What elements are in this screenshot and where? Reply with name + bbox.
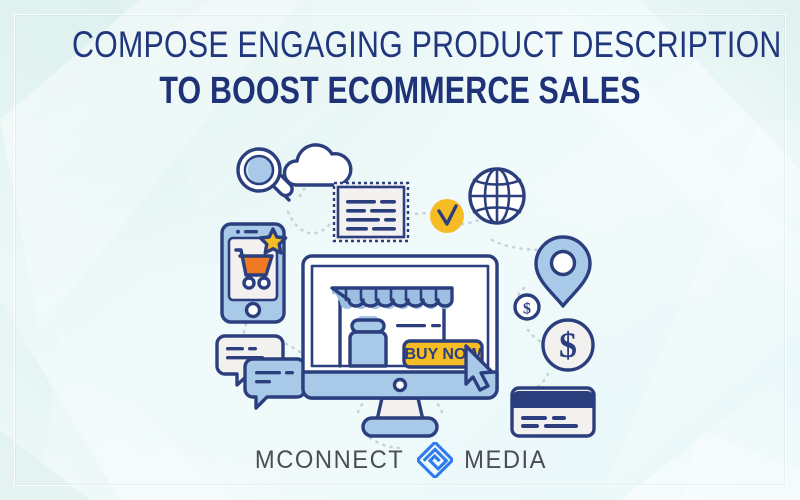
shelf-dashes (396, 324, 441, 327)
globe-icon (470, 169, 524, 223)
dollar-coin-large-icon: $ (543, 320, 593, 370)
svg-text:$: $ (523, 301, 531, 318)
document-icon (334, 183, 408, 241)
location-pin-icon (536, 237, 590, 306)
brand-logo[interactable]: MCONNECT MEDIA (0, 442, 800, 478)
mconnect-diamond-mark (417, 442, 453, 478)
credit-card-icon (512, 388, 594, 436)
ecommerce-illustration: .nv { stroke:#2b3f7e; stroke-width:3.4; … (0, 0, 800, 500)
mobile-cart-icon[interactable] (222, 224, 286, 322)
banner-root: COMPOSE ENGAGING PRODUCT DESCRIPTION TO … (0, 0, 800, 500)
check-circle-icon (430, 199, 464, 233)
dollar-coin-small-icon: $ (515, 295, 539, 319)
logo-word-left: MCONNECT (255, 446, 404, 475)
desktop-monitor[interactable]: BUY NOW (303, 256, 497, 436)
product-bottle (350, 316, 386, 366)
logo-word-right: MEDIA (464, 446, 547, 475)
svg-text:$: $ (559, 325, 577, 365)
cloud-icon (284, 145, 350, 185)
